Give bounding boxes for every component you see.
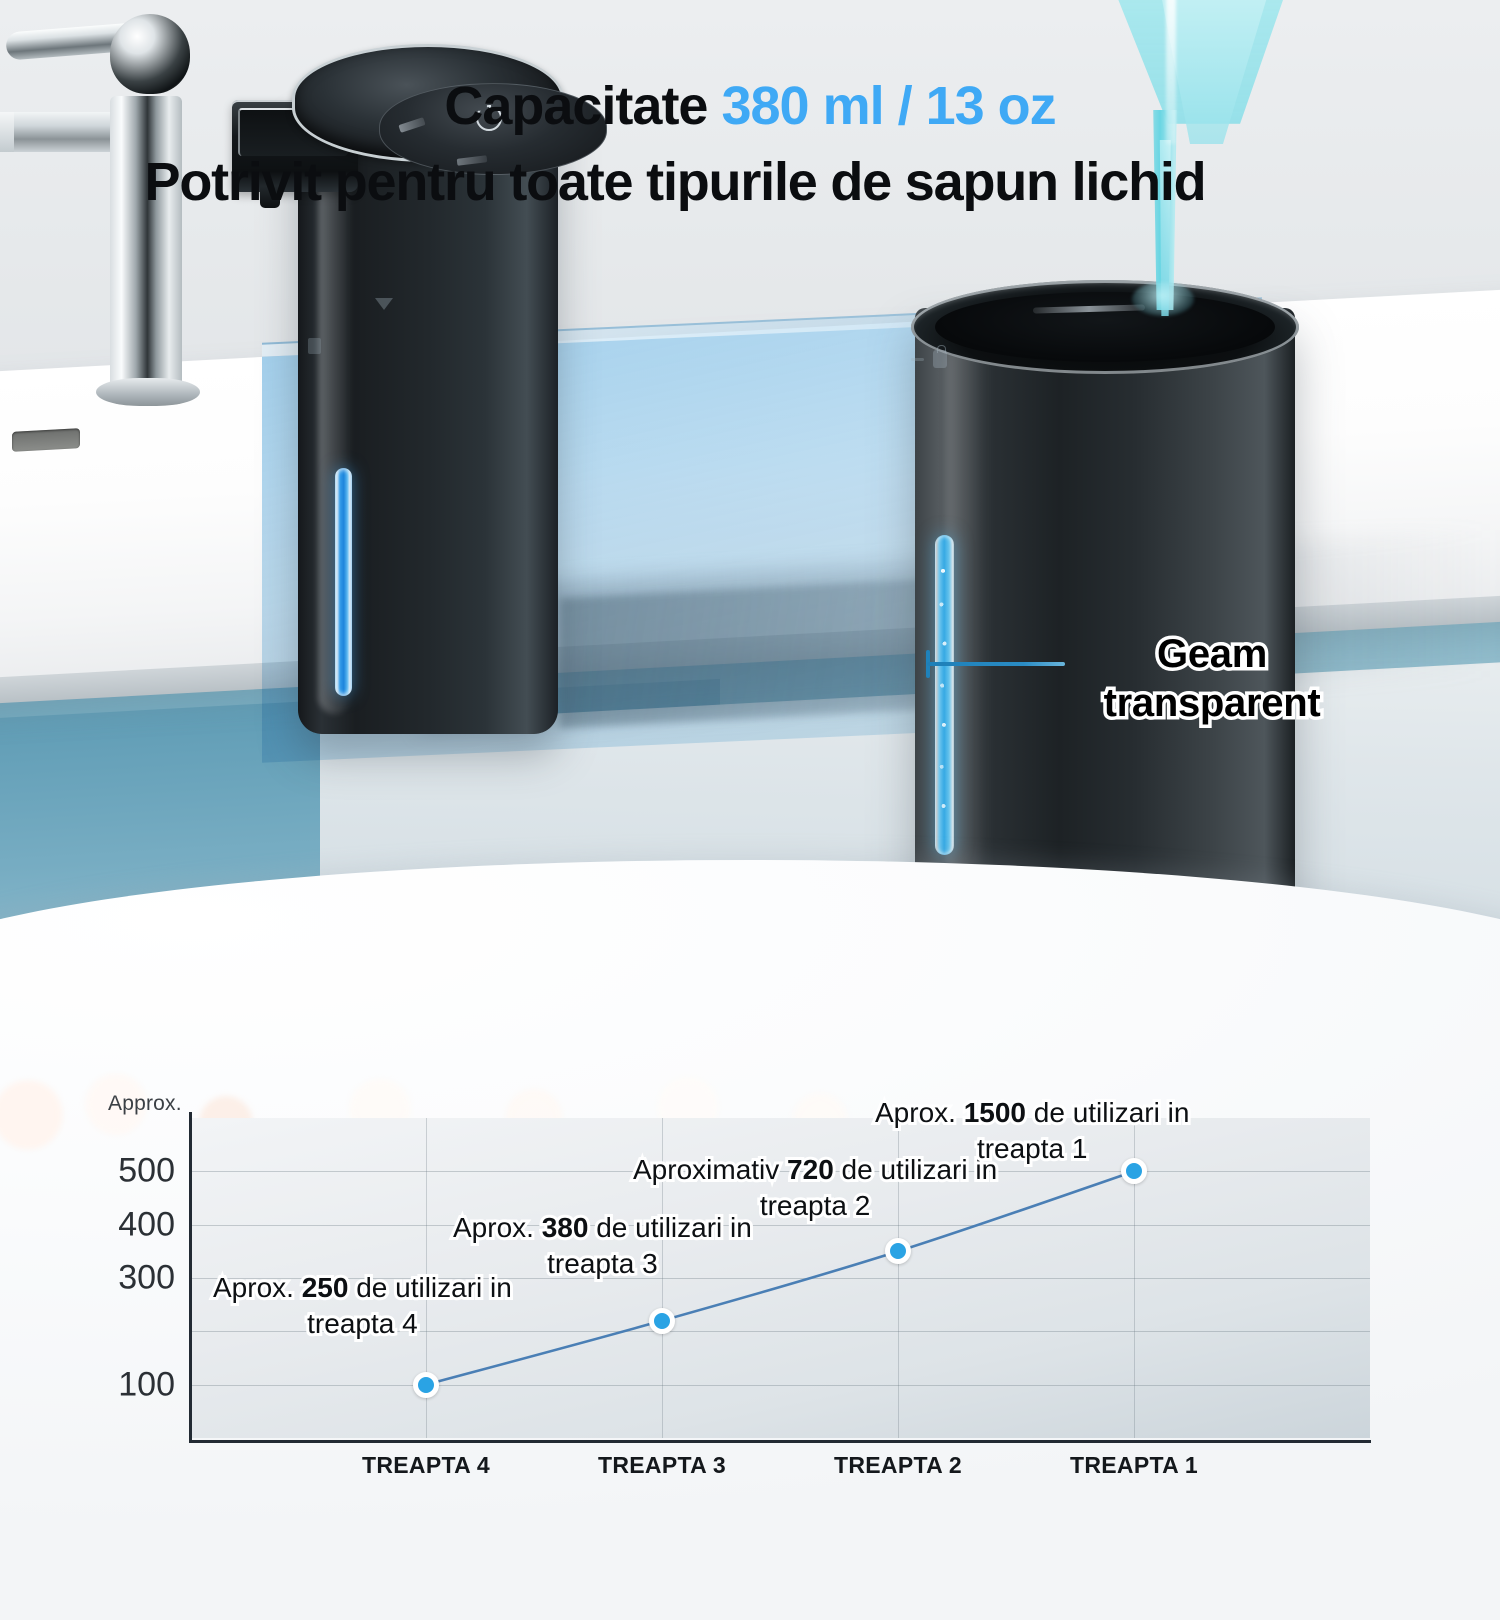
chart-data-point[interactable] — [413, 1372, 439, 1398]
panel-headings: Capacitate 380 ml / 13 oz Potrivit pentr… — [0, 75, 1500, 213]
y-tick-label: 400 — [118, 1205, 175, 1244]
callout-line-2: transparent — [1062, 679, 1362, 728]
pour-splash — [1132, 282, 1194, 316]
lock-icon — [933, 350, 947, 368]
y-tick-label: 500 — [118, 1152, 175, 1191]
chart-annotation-line-2: treapta 4 — [213, 1306, 512, 1342]
chart-y-tick-labels: 500400300100 — [105, 1118, 175, 1438]
chart-annotation-value: 250 — [302, 1272, 349, 1303]
chart-annotation-value: 1500 — [964, 1097, 1026, 1128]
x-tick-label: TREAPTA 3 — [598, 1452, 726, 1479]
chart-y-axis — [189, 1112, 192, 1442]
chart-annotation-value: 380 — [542, 1212, 589, 1243]
chart-x-tick-labels: TREAPTA 4TREAPTA 3TREAPTA 2TREAPTA 1 — [190, 1452, 1370, 1492]
light-strip-icon — [935, 535, 954, 855]
x-tick-label: TREAPTA 1 — [1070, 1452, 1198, 1479]
x-tick-label: TREAPTA 2 — [834, 1452, 962, 1479]
chart-annotation-line-2: treapta 2 — [633, 1188, 997, 1224]
chart-annotation-line-1: Aprox. 1500 de utilizari in — [875, 1095, 1189, 1131]
lock-icon — [308, 338, 321, 354]
y-axis-title: Approx. — [108, 1092, 182, 1116]
capacity-heading-accent: 380 ml / 13 oz — [721, 76, 1055, 136]
chart-annotation: Aprox. 1500 de utilizari intreapta 1 — [875, 1095, 1189, 1167]
y-tick-label: 100 — [118, 1365, 175, 1404]
callout-line-1: Geam — [1062, 630, 1362, 679]
faucet-base — [96, 378, 200, 406]
chart-data-point[interactable] — [649, 1308, 675, 1334]
light-strip-icon — [335, 468, 352, 696]
callout-geam-transparent: Geam transparent — [1062, 630, 1362, 728]
chart-annotation-line-2: treapta 3 — [453, 1246, 752, 1282]
chart-annotation-line-2: treapta 1 — [875, 1131, 1189, 1167]
soap-dispenser-tank — [905, 280, 1305, 950]
subheading: Potrivit pentru toate tipurile de sapun … — [0, 151, 1500, 213]
y-tick-label: 300 — [118, 1259, 175, 1298]
capacity-heading: Capacitate 380 ml / 13 oz — [0, 75, 1500, 137]
chart-annotation-value: 720 — [787, 1154, 834, 1185]
chart-data-point[interactable] — [885, 1238, 911, 1264]
tank-dash-marker-icon — [911, 358, 924, 361]
countertop-slot — [12, 428, 80, 452]
capacity-heading-prefix: Capacitate — [444, 76, 721, 136]
callout-leader-line — [927, 662, 1065, 666]
usage-chart: Approx. 500400300100 TREAPTA 4TREAPTA 3T… — [105, 1090, 1395, 1500]
chart-x-axis — [189, 1440, 1371, 1443]
x-tick-label: TREAPTA 4 — [362, 1452, 490, 1479]
